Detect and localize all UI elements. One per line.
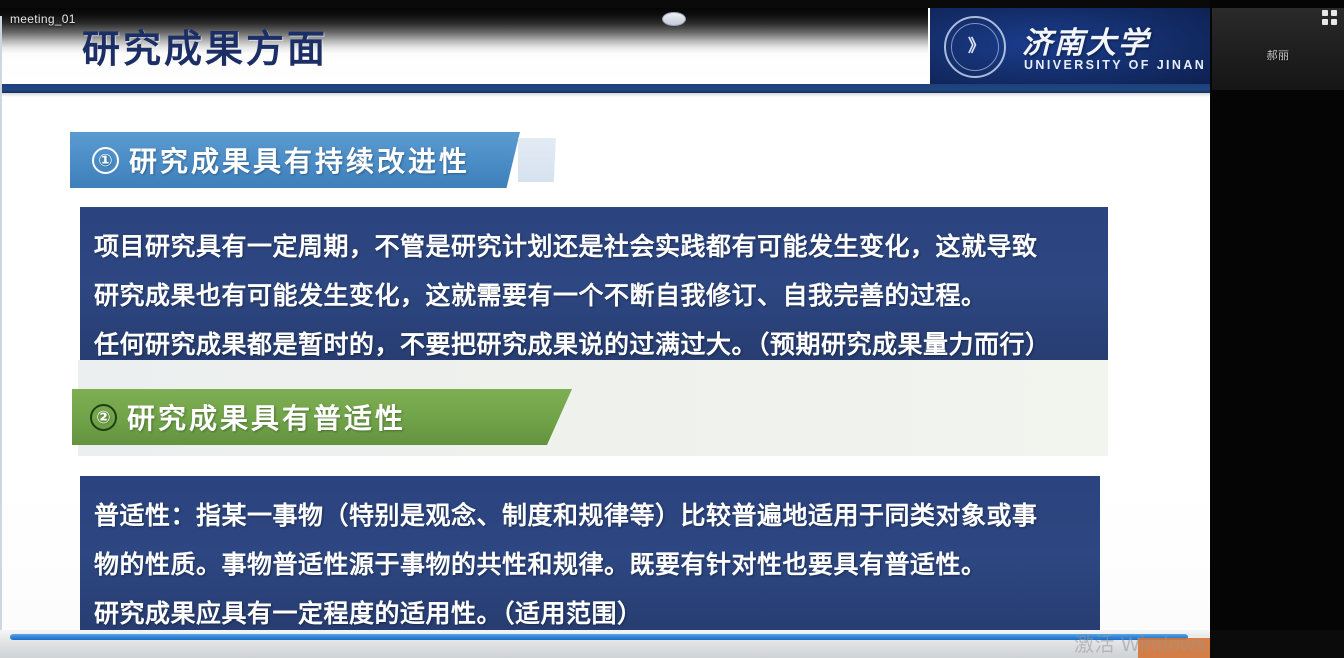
university-name-en: UNIVERSITY OF JINAN [1024,58,1206,72]
apps-grid-square [1331,19,1337,25]
progress-fill [10,634,1188,640]
university-banner: 》 济南大学 UNIVERSITY OF JINAN [930,8,1210,88]
meeting-name-tag: meeting_01 [10,12,76,26]
university-seal-mark: 》 [968,31,982,56]
meeting-screen: 郝丽 研究成果方面 》 济南大学 UNIVERSITY OF JINAN ① 研… [0,0,1344,658]
section-1-heading: ① 研究成果具有持续改进性 [70,132,520,188]
section-1-number: ① [92,147,119,174]
header-rule [0,84,1210,93]
shared-slide: 研究成果方面 》 济南大学 UNIVERSITY OF JINAN ① 研究成果… [0,8,1210,636]
apps-grid-square [1331,10,1337,16]
slide-title: 研究成果方面 [82,31,328,69]
section-2-heading-text: 研究成果具有普适性 [127,397,406,437]
apps-grid-square [1322,19,1328,25]
university-name-cn: 济南大学 [1022,18,1150,62]
section-1-ribbon-tail [518,138,556,182]
section-1-heading-text: 研究成果具有持续改进性 [129,140,470,180]
section-2-heading: ② 研究成果具有普适性 [72,389,572,445]
section-1-body-line: 研究成果也有可能发生变化，这就需要有一个不断自我修订、自我完善的过程。 [94,272,1094,321]
section-1-body-line: 项目研究具有一定周期，不管是研究计划还是社会实践都有可能发生变化，这就导致 [94,223,1094,272]
apps-grid-square [1322,10,1328,16]
section-2-body-line: 普适性：指某一事物（特别是观念、制度和规律等）比较普遍地适用于同类对象或事 [94,492,1086,541]
section-1-body: 项目研究具有一定周期，不管是研究计划还是社会实践都有可能发生变化，这就导致 研究… [80,207,1108,362]
section-2-body-line: 研究成果应具有一定程度的适用性。（适用范围） [94,590,1086,633]
meeting-side-panel [1210,0,1344,658]
watermark-highlight-block [1138,638,1210,658]
apps-grid-icon[interactable] [1322,10,1338,26]
participant-name-label: 郝丽 [1212,47,1344,63]
university-seal-icon: 》 [944,16,1006,78]
section-2-number: ② [90,404,117,431]
slide-left-edge [0,16,2,636]
progress-track[interactable] [10,634,1334,640]
section-2-body: 普适性：指某一事物（特别是观念、制度和规律等）比较普遍地适用于同类对象或事 物的… [80,476,1100,633]
player-bar-right-cap [1210,630,1344,658]
player-control-knob[interactable] [662,12,686,26]
section-1-body-line: 任何研究成果都是暂时的，不要把研究成果说的过满过大。（预期研究成果量力而行） [94,321,1094,362]
section-2-body-line: 物的性质。事物普适性源于事物的共性和规律。既要有针对性也要具有普适性。 [94,541,1086,590]
